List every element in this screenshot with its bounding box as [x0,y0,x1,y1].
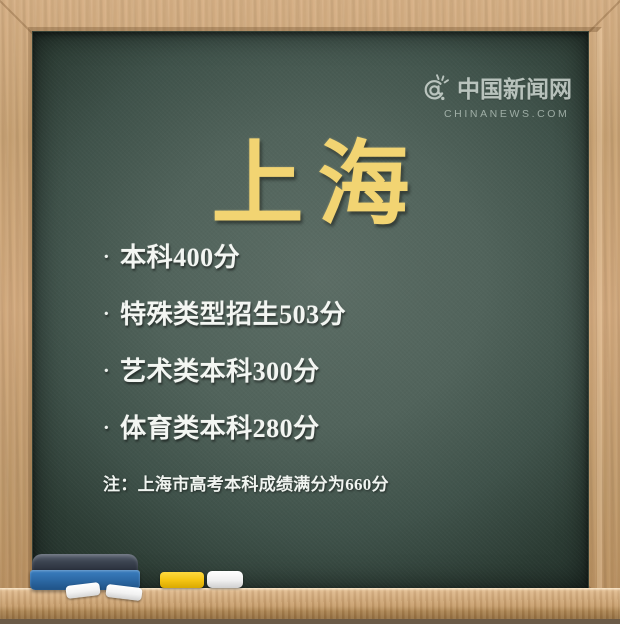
chalk-white-tray[interactable] [207,571,243,588]
list-item: · 体育类本科280分 [103,408,533,445]
chalk-yellow[interactable] [160,572,204,588]
list-item: · 艺术类本科300分 [103,351,533,388]
bullet-icon: · [103,247,110,267]
bullet-icon: · [103,418,110,438]
watermark-brand: 中国新闻网 [457,78,572,101]
list-item: · 特殊类型招生503分 [103,294,533,331]
list-item-label: 特殊类型招生503分 [120,294,346,331]
watermark-domain: CHINANEWS.COM [444,108,569,120]
watermark-row: 中国新闻网 [418,72,572,106]
watermark-logo: 中国新闻网 CHINANEWS.COM [418,72,572,120]
footnote: 注：上海市高考本科成绩满分为660分 [103,470,533,495]
list-item-label: 本科400分 [120,237,240,274]
bullet-icon: · [103,304,110,324]
chalkboard-surface: 中国新闻网 CHINANEWS.COM 上海 · 本科400分 · 特殊类型招生… [33,32,588,588]
page-title: 上海 [33,137,588,234]
bullet-icon: · [103,361,110,381]
list-item-label: 艺术类本科300分 [120,351,320,388]
at-sign-icon [418,72,452,106]
list-item: · 本科400分 [103,237,533,274]
score-list: · 本科400分 · 特殊类型招生503分 · 艺术类本科300分 · 体育类本… [103,237,533,465]
list-item-label: 体育类本科280分 [120,408,320,445]
chalkboard-frame: 中国新闻网 CHINANEWS.COM 上海 · 本科400分 · 特殊类型招生… [0,0,620,619]
